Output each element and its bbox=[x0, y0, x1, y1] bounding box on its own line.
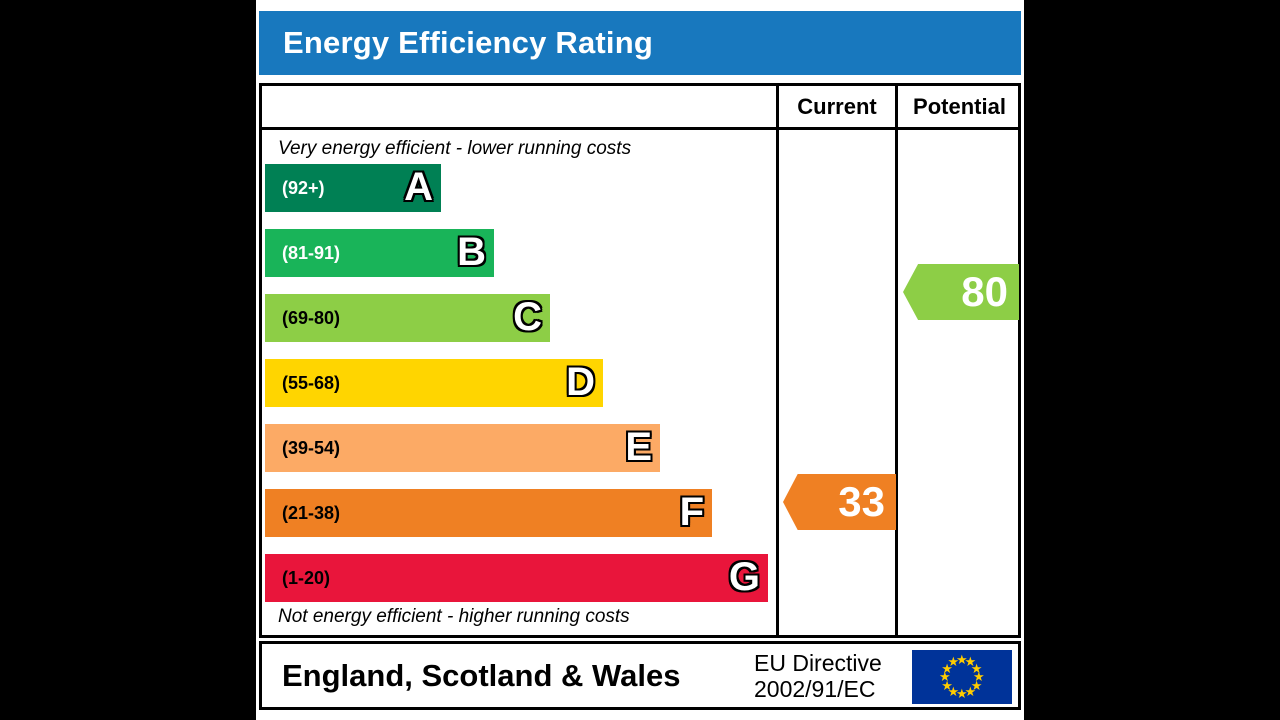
band-bar-f: (21-38) F bbox=[265, 489, 712, 537]
footer-directive-line2: 2002/91/EC bbox=[754, 676, 882, 702]
certificate-footer: England, Scotland & Wales EU Directive 2… bbox=[259, 641, 1021, 710]
screenshot-root: Energy Efficiency Rating Current Potenti… bbox=[0, 0, 1280, 720]
column-header-potential: Potential bbox=[895, 86, 1021, 127]
efficiency-band-chart: Very energy efficient - lower running co… bbox=[262, 130, 776, 635]
certificate-header-banner: Energy Efficiency Rating bbox=[259, 11, 1021, 75]
band-letter-d: D bbox=[566, 362, 595, 402]
band-range-a: (92+) bbox=[282, 178, 325, 199]
band-bar-e: (39-54) E bbox=[265, 424, 660, 472]
band-letter-g: G bbox=[729, 557, 760, 597]
band-range-g: (1-20) bbox=[282, 568, 330, 589]
band-letter-a: A bbox=[404, 167, 433, 207]
epc-certificate: Energy Efficiency Rating Current Potenti… bbox=[256, 0, 1024, 720]
current-rating-arrow: 33 bbox=[783, 474, 896, 530]
band-row-d: (55-68) D bbox=[262, 359, 776, 415]
band-bar-d: (55-68) D bbox=[265, 359, 603, 407]
band-range-e: (39-54) bbox=[282, 438, 340, 459]
caption-not-efficient: Not energy efficient - higher running co… bbox=[278, 606, 630, 628]
band-range-d: (55-68) bbox=[282, 373, 340, 394]
footer-directive-label: EU Directive 2002/91/EC bbox=[754, 649, 882, 701]
footer-directive-line1: EU Directive bbox=[754, 649, 882, 675]
band-letter-b: B bbox=[457, 232, 486, 272]
eu-flag-star: ★ bbox=[948, 655, 960, 668]
potential-rating-arrow: 80 bbox=[903, 264, 1019, 320]
band-row-c: (69-80) C bbox=[262, 294, 776, 350]
band-bar-a: (92+) A bbox=[265, 164, 441, 212]
band-range-f: (21-38) bbox=[282, 503, 340, 524]
current-rating-value: 33 bbox=[838, 481, 896, 523]
band-letter-f: F bbox=[680, 492, 704, 532]
band-letter-e: E bbox=[625, 427, 652, 467]
band-range-b: (81-91) bbox=[282, 243, 340, 264]
band-row-a: (92+) A bbox=[262, 164, 776, 220]
band-row-e: (39-54) E bbox=[262, 424, 776, 480]
band-row-f: (21-38) F bbox=[262, 489, 776, 545]
band-row-g: (1-20) G bbox=[262, 554, 776, 610]
rating-table: Current Potential Very energy efficient … bbox=[259, 83, 1021, 638]
band-bar-b: (81-91) B bbox=[265, 229, 494, 277]
table-divider-current bbox=[776, 130, 779, 635]
caption-very-efficient: Very energy efficient - lower running co… bbox=[278, 138, 631, 160]
footer-region-label: England, Scotland & Wales bbox=[282, 658, 680, 694]
band-letter-c: C bbox=[513, 297, 542, 337]
band-range-c: (69-80) bbox=[282, 308, 340, 329]
band-bar-c: (69-80) C bbox=[265, 294, 550, 342]
column-header-current: Current bbox=[776, 86, 895, 127]
eu-flag-icon: ★★★★★★★★★★★★ bbox=[912, 650, 1012, 704]
band-row-b: (81-91) B bbox=[262, 229, 776, 285]
band-bar-g: (1-20) G bbox=[265, 554, 768, 602]
potential-rating-value: 80 bbox=[961, 271, 1019, 313]
page-title: Energy Efficiency Rating bbox=[283, 25, 653, 61]
band-bar-list: (92+) A (81-91) B (69-80) C bbox=[262, 164, 776, 619]
table-column-header-row: Current Potential bbox=[262, 86, 1018, 130]
table-divider-potential bbox=[895, 130, 898, 635]
